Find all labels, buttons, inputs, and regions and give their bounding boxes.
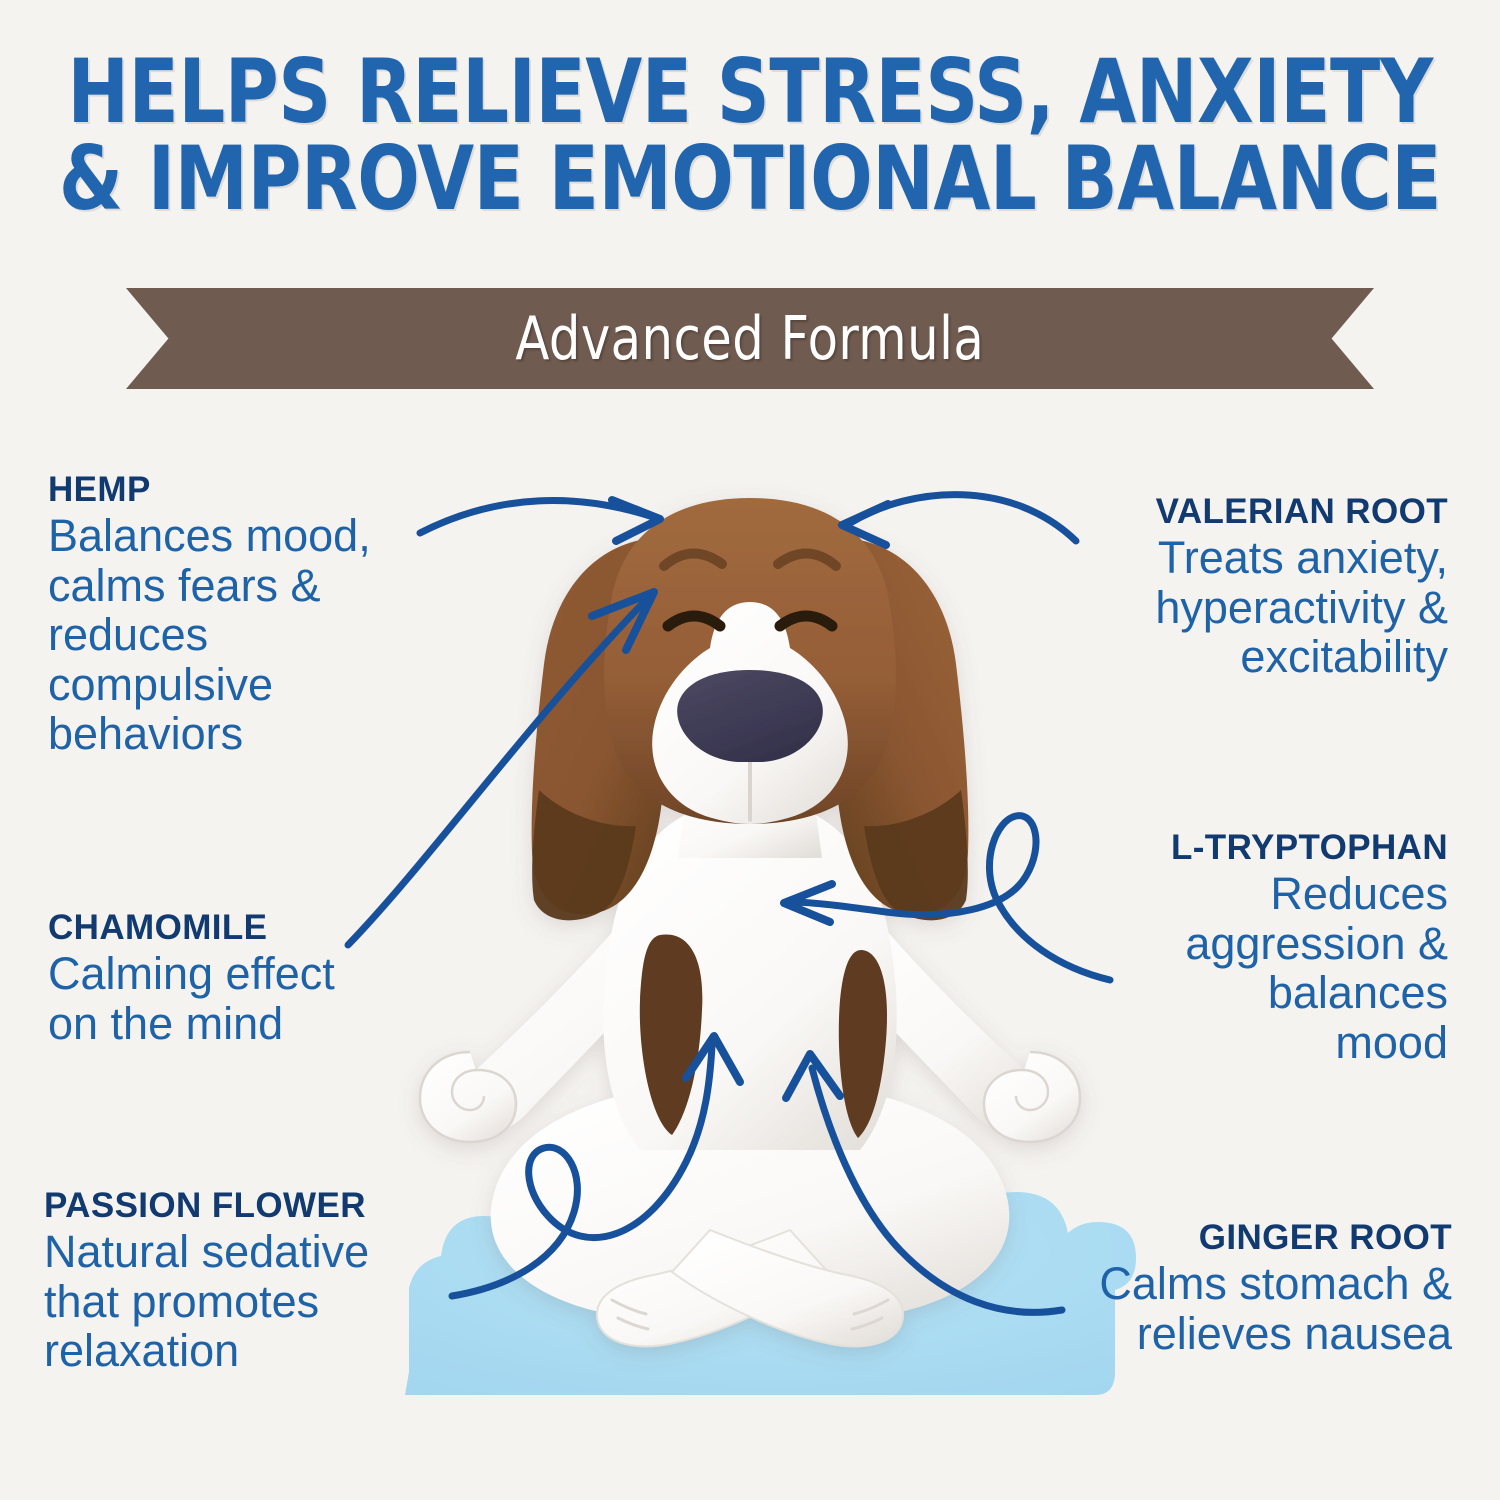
callout-line: Reduces — [1171, 869, 1448, 919]
dog-body-spot-right — [839, 950, 887, 1138]
dog-eye-left — [668, 616, 720, 626]
dog-lap — [491, 1080, 1010, 1318]
callout-line: balances — [1171, 968, 1448, 1018]
callout-chamomile-title: CHAMOMILE — [48, 908, 335, 947]
dog-left-foot — [597, 1230, 828, 1346]
arrow-passion-flower — [452, 1036, 740, 1296]
dog-left-arm — [455, 900, 688, 1134]
callout-passion-flower: PASSION FLOWER Natural sedative that pro… — [44, 1186, 369, 1376]
callout-hemp: HEMP Balances mood, calms fears & reduce… — [48, 470, 371, 759]
callout-line: Natural sedative — [44, 1227, 369, 1277]
callout-chamomile: CHAMOMILE Calming effect on the mind — [48, 908, 335, 1048]
callout-l-tryptophan-body: Reduces aggression & balances mood — [1171, 869, 1448, 1067]
dog-ear-right — [833, 540, 968, 914]
callout-line: Calms stomach & — [1099, 1259, 1452, 1309]
dog-torso — [603, 800, 897, 1150]
arrow-ginger-root — [786, 1054, 1062, 1312]
arrow-l-tryptophan — [784, 816, 1110, 980]
callout-ginger-root-title: GINGER ROOT — [1099, 1218, 1452, 1257]
dog-muzzle — [652, 602, 848, 824]
dog-right-arm — [812, 900, 1045, 1134]
callout-l-tryptophan: L-TRYPTOPHAN Reduces aggression & balanc… — [1171, 828, 1448, 1067]
callout-line: Treats anxiety, — [1155, 533, 1448, 583]
callout-line: that promotes — [44, 1277, 369, 1327]
callout-chamomile-body: Calming effect on the mind — [48, 949, 335, 1048]
callout-ginger-root: GINGER ROOT Calms stomach & relieves nau… — [1099, 1218, 1452, 1358]
dog-right-foot — [672, 1230, 903, 1346]
callout-hemp-body: Balances mood, calms fears & reduces com… — [48, 511, 371, 759]
dog-right-paw — [984, 1052, 1080, 1142]
arrow-valerian — [842, 495, 1076, 545]
arrow-chamomile — [348, 592, 654, 945]
dog-head — [604, 498, 896, 824]
callout-line: excitability — [1155, 632, 1448, 682]
cloud-shape — [405, 1170, 1136, 1395]
arrow-hemp — [420, 500, 660, 541]
headline-line-2: & IMPROVE EMOTIONAL BALANCE — [53, 135, 1448, 222]
callout-valerian-root: VALERIAN ROOT Treats anxiety, hyperactiv… — [1155, 492, 1448, 682]
page-headline: HELPS RELIEVE STRESS, ANXIETY & IMPROVE … — [53, 48, 1448, 222]
callout-hemp-title: HEMP — [48, 470, 371, 509]
infographic-page: HELPS RELIEVE STRESS, ANXIETY & IMPROVE … — [0, 0, 1500, 1500]
dog-left-paw — [420, 1052, 516, 1142]
advanced-formula-banner: Advanced Formula — [126, 288, 1374, 389]
callout-passion-flower-title: PASSION FLOWER — [44, 1186, 369, 1225]
callout-line: relieves nausea — [1099, 1309, 1452, 1359]
callout-valerian-root-title: VALERIAN ROOT — [1155, 492, 1448, 531]
dog-ear-left — [532, 540, 667, 914]
dog-eye-right — [780, 616, 832, 626]
dog-eyebrow-left — [664, 553, 722, 566]
dog-body-spot-left — [640, 934, 703, 1135]
dog-figure — [420, 498, 1080, 1346]
dog-neck — [678, 770, 822, 858]
callout-line: relaxation — [44, 1326, 369, 1376]
dog-nose — [677, 670, 823, 762]
callout-line: on the mind — [48, 999, 335, 1049]
callout-line: mood — [1171, 1018, 1448, 1068]
dog-eyebrow-right — [778, 553, 836, 566]
callout-line: hyperactivity & — [1155, 583, 1448, 633]
callout-line: reduces — [48, 610, 371, 660]
headline-line-1: HELPS RELIEVE STRESS, ANXIETY — [53, 48, 1448, 135]
callout-line: compulsive — [48, 660, 371, 710]
callout-line: calms fears & — [48, 561, 371, 611]
callout-line: Calming effect — [48, 949, 335, 999]
callout-l-tryptophan-title: L-TRYPTOPHAN — [1171, 828, 1448, 867]
banner-label: Advanced Formula — [516, 304, 985, 374]
callout-ginger-root-body: Calms stomach & relieves nausea — [1099, 1259, 1452, 1358]
callout-line: behaviors — [48, 709, 371, 759]
callout-passion-flower-body: Natural sedative that promotes relaxatio… — [44, 1227, 369, 1376]
callout-line: aggression & — [1171, 919, 1448, 969]
callout-line: Balances mood, — [48, 511, 371, 561]
callout-valerian-root-body: Treats anxiety, hyperactivity & excitabi… — [1155, 533, 1448, 682]
